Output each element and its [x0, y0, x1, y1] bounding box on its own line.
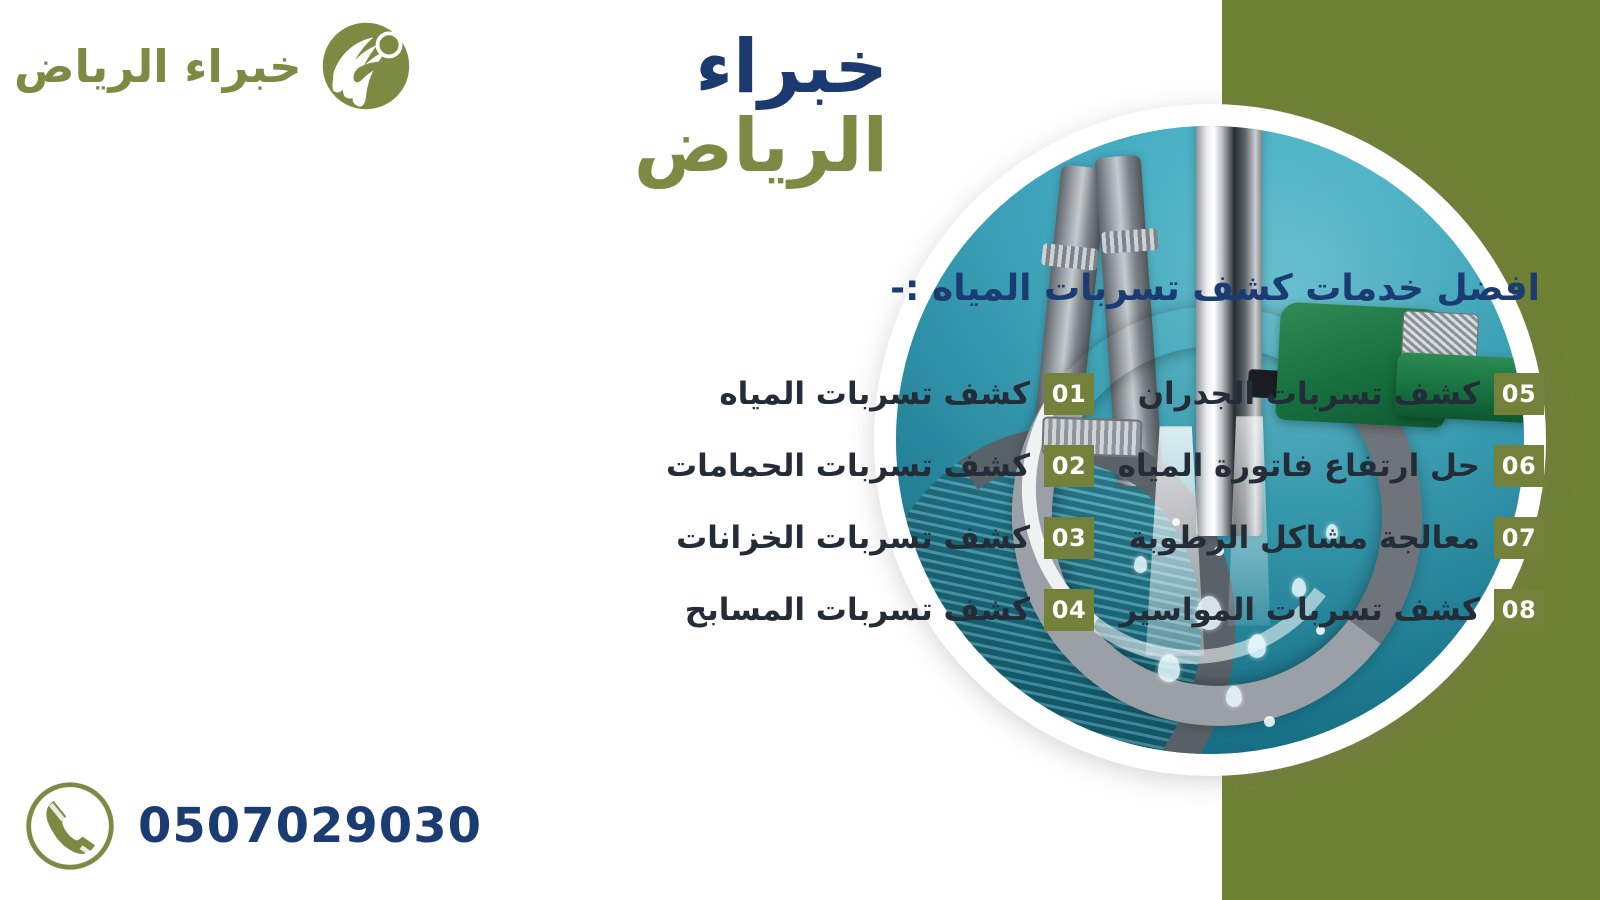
- brand-logo[interactable]: خبراء الرياض: [14, 18, 414, 114]
- phone-number-text: 0507029030: [138, 798, 482, 854]
- photo-water-drop: [1226, 686, 1242, 707]
- list-item[interactable]: 06 حل ارتفاع فاتورة المياه: [1114, 440, 1544, 492]
- list-item[interactable]: 07 معالجة مشاكل الرطوبة: [1114, 512, 1544, 564]
- service-label: حل ارتفاع فاتورة المياه: [1118, 448, 1480, 484]
- service-label: كشف تسربات المسابح: [685, 592, 1030, 628]
- phone-handset-icon: [22, 778, 118, 874]
- headline-line-2: الرياض: [634, 109, 888, 184]
- list-item[interactable]: 04 كشف تسربات المسابح: [664, 584, 1094, 636]
- photo-water-drop: [1248, 634, 1266, 658]
- photo-water-droplet: [1264, 716, 1275, 727]
- leaf-circle-logo-icon: [318, 18, 414, 114]
- service-number-badge: 04: [1044, 589, 1094, 631]
- headline-line-1: خبراء: [634, 30, 888, 105]
- page-title: خبراء الرياض: [634, 30, 888, 185]
- service-number-badge: 02: [1044, 445, 1094, 487]
- contact-phone[interactable]: 0507029030: [22, 778, 482, 874]
- list-item[interactable]: 05 كشف تسربات الجدران: [1114, 368, 1544, 420]
- service-label: معالجة مشاكل الرطوبة: [1129, 520, 1480, 556]
- service-label: كشف تسربات المواسير: [1119, 592, 1480, 628]
- poster-canvas: خبراء الرياض خبراء الرياض افضل خدمات كشف…: [0, 0, 1600, 900]
- service-number-badge: 05: [1494, 373, 1544, 415]
- services-grid: 05 كشف تسربات الجدران 01 كشف تسربات المي…: [664, 368, 1544, 636]
- brand-logo-text: خبراء الرياض: [14, 44, 302, 89]
- list-item[interactable]: 03 كشف تسربات الخزانات: [664, 512, 1094, 564]
- list-item[interactable]: 08 كشف تسربات المواسير: [1114, 584, 1544, 636]
- list-item[interactable]: 01 كشف تسربات المياه: [664, 368, 1094, 420]
- service-number-badge: 07: [1494, 517, 1544, 559]
- photo-water-drop: [1158, 654, 1180, 682]
- service-label: كشف تسربات الحمامات: [666, 448, 1030, 484]
- service-number-badge: 03: [1044, 517, 1094, 559]
- service-number-badge: 01: [1044, 373, 1094, 415]
- service-number-badge: 08: [1494, 589, 1544, 631]
- photo-pipe-collar-2: [1101, 228, 1158, 254]
- service-number-badge: 06: [1494, 445, 1544, 487]
- section-subtitle: افضل خدمات كشف تسربات المياه :-: [890, 268, 1540, 309]
- service-label: كشف تسربات الجدران: [1138, 376, 1480, 412]
- list-item[interactable]: 02 كشف تسربات الحمامات: [664, 440, 1094, 492]
- service-label: كشف تسربات المياه: [719, 376, 1030, 412]
- service-label: كشف تسربات الخزانات: [676, 520, 1030, 556]
